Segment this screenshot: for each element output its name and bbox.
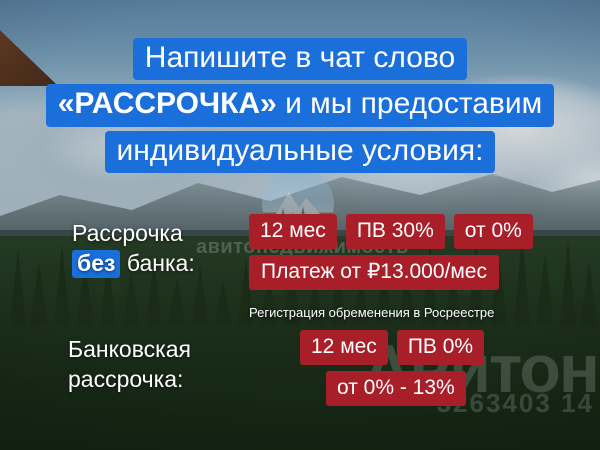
- offer-label-no-bank-line2-rest: банка:: [120, 250, 194, 276]
- offer-badges-bank: 12 мес ПВ 0% от 0% - 13%: [300, 330, 484, 406]
- offer-label-bank-line2: рассрочка:: [68, 364, 258, 394]
- headline-block: Напишите в чат слово «РАССРОЧКА» и мы пр…: [0, 38, 600, 173]
- badge-rate: от 0%: [454, 214, 533, 249]
- headline-keyword: «РАССРОЧКА»: [58, 87, 277, 120]
- offer-label-no-bank-line1: Рассрочка: [72, 218, 242, 248]
- offer-label-no-bank: Рассрочка без банка:: [72, 218, 242, 279]
- badge-line-bank-rate-row: от 0% - 13%: [300, 371, 466, 406]
- offer-note-rosreestr: Регистрация обременения в Росреестре: [249, 305, 533, 320]
- badge-bank-term: 12 мес: [300, 330, 388, 365]
- offer-label-highlight-bez: без: [72, 250, 120, 278]
- offer-label-bank-line1: Банковская: [68, 334, 258, 364]
- badge-line-payment-row: Платеж от ₽13.000/мес: [249, 255, 533, 290]
- offer-label-no-bank-line2: без банка:: [72, 248, 242, 278]
- badge-bank-downpayment: ПВ 0%: [397, 330, 484, 365]
- promo-banner: авитонедвижимость Авитон 3263403 14 Напи…: [0, 0, 600, 450]
- headline-line-2-rest: и мы предоставим: [277, 87, 543, 120]
- headline-line-3: индивидуальные условия:: [105, 131, 496, 173]
- offer-label-bank: Банковская рассрочка:: [68, 334, 258, 395]
- headline-line-1: Напишите в чат слово: [133, 38, 467, 80]
- headline-line-2: «РАССРОЧКА» и мы предоставим: [46, 84, 555, 126]
- badge-downpayment: ПВ 30%: [346, 214, 445, 249]
- badge-bank-rate: от 0% - 13%: [326, 371, 466, 406]
- badge-monthly-payment: Платеж от ₽13.000/мес: [249, 255, 499, 290]
- badge-line-term-row: 12 мес ПВ 30% от 0%: [249, 214, 533, 249]
- badge-line-bank-term-row: 12 мес ПВ 0%: [300, 330, 484, 365]
- badge-term: 12 мес: [249, 214, 337, 249]
- offer-badges-no-bank: 12 мес ПВ 30% от 0% Платеж от ₽13.000/ме…: [249, 214, 533, 320]
